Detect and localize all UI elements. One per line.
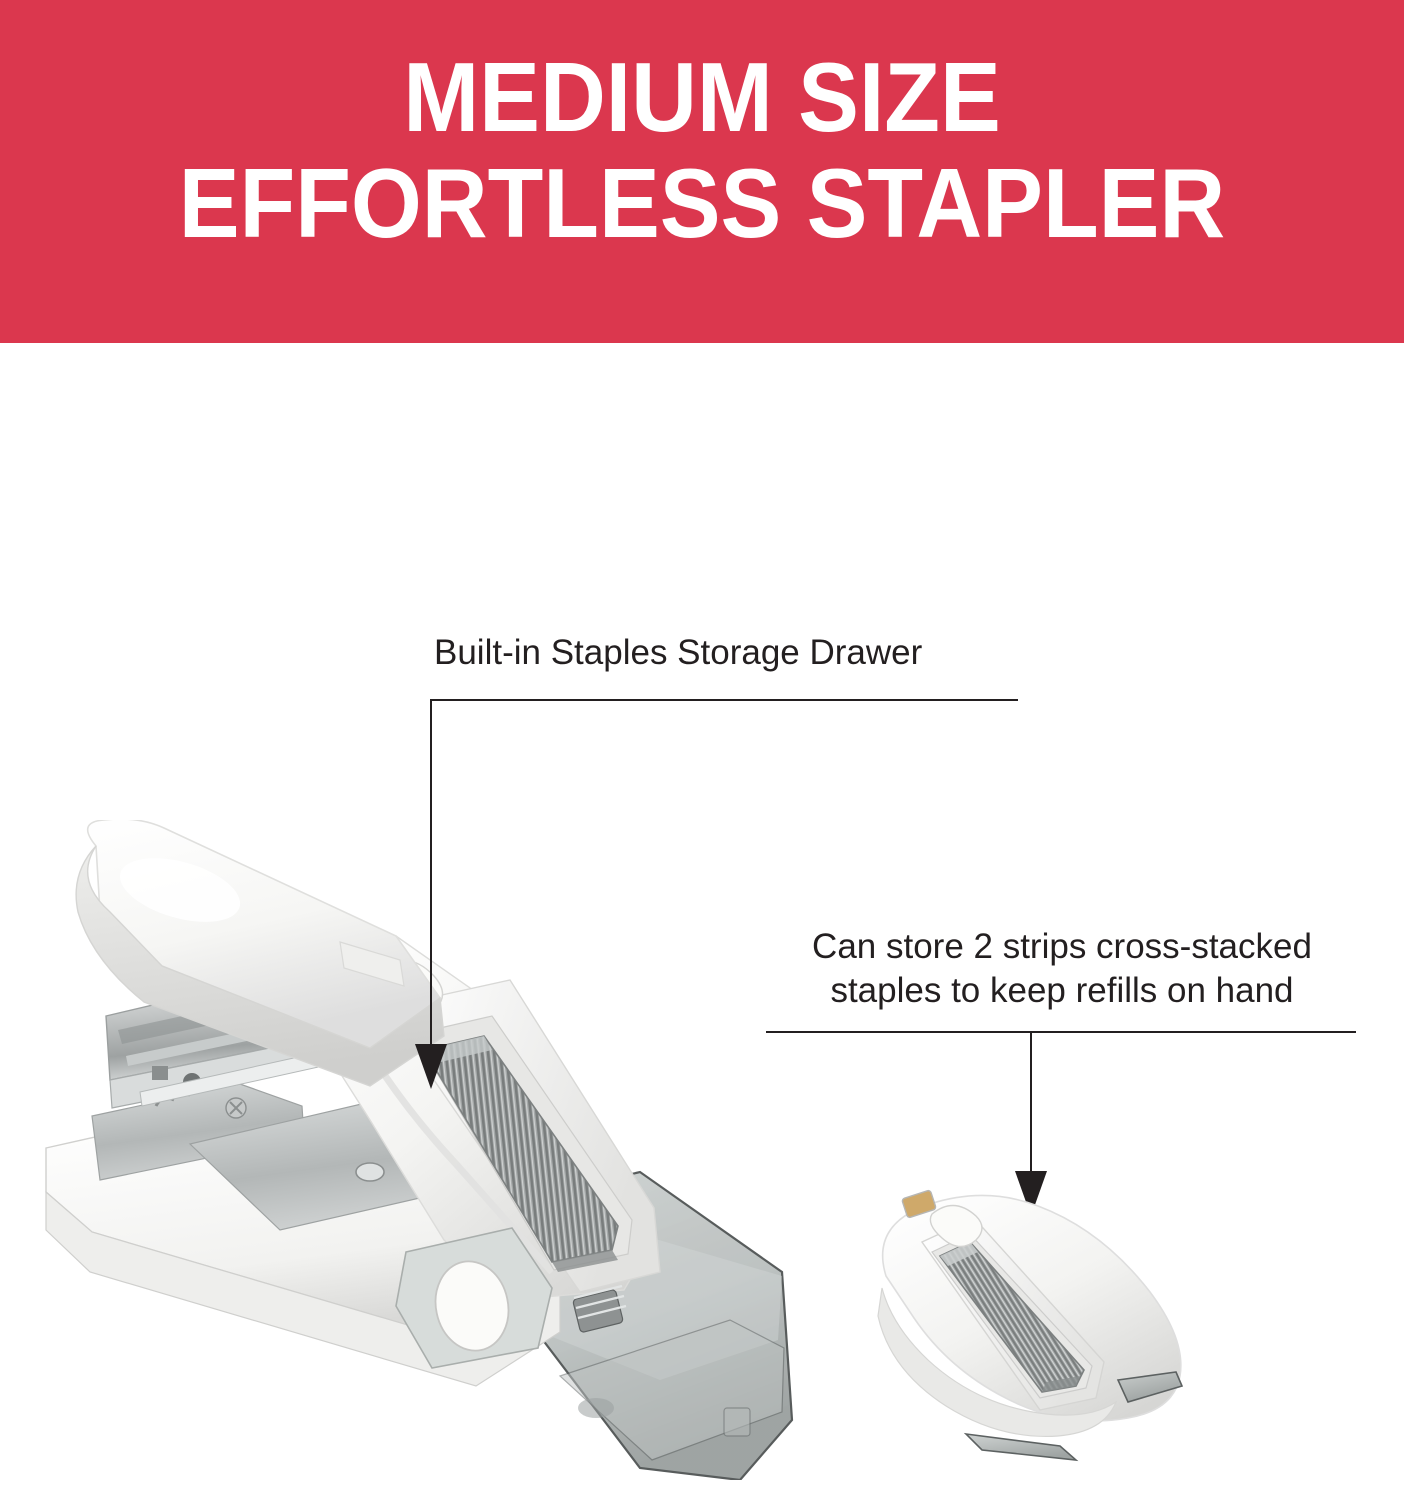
callout-underline-storage-drawer: [430, 699, 1018, 701]
callout-underline-two-strips: [766, 1031, 1356, 1033]
callout-leader-line-storage-drawer: [430, 699, 432, 1054]
stapler-main-illustration: [40, 820, 830, 1480]
callout-arrowhead-storage-drawer: [415, 1044, 447, 1089]
stapler-drawer-closeup-illustration: [870, 1180, 1200, 1470]
headline-title: MEDIUM SIZE EFFORTLESS STAPLER: [49, 44, 1355, 256]
stapler-drawer-closeup-photo: [870, 1180, 1200, 1470]
callout-label-two-strips: Can store 2 strips cross-stacked staples…: [766, 925, 1358, 1013]
callout-leader-line-two-strips: [1030, 1031, 1032, 1181]
callout-label-storage-drawer: Built-in Staples Storage Drawer: [434, 631, 922, 675]
stapler-main-photo: [40, 820, 830, 1480]
headline-banner: MEDIUM SIZE EFFORTLESS STAPLER: [0, 0, 1404, 343]
product-feature-image: MEDIUM SIZE EFFORTLESS STAPLER: [0, 0, 1404, 1500]
